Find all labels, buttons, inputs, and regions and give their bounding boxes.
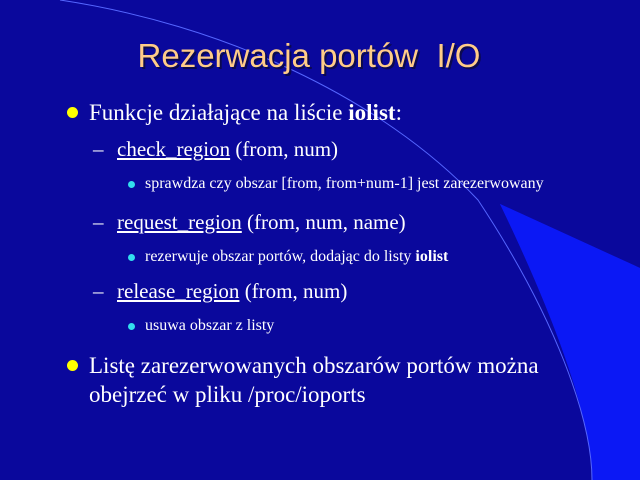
list-item: rezerwuje obszar portów, dodając do list… — [0, 247, 640, 267]
spacer — [0, 237, 640, 247]
list-item: Funkcje działające na liście iolist: — [0, 98, 640, 127]
dash-marker-icon: – — [93, 136, 104, 163]
bullet-circle-icon — [67, 360, 78, 371]
bullet-dot-icon — [128, 323, 135, 330]
list-item-text: Funkcje działające na liście — [89, 100, 348, 125]
list-item-text: usuwa obszar z listy — [145, 317, 274, 334]
slide-body: Funkcje działające na liście iolist: –ch… — [0, 98, 640, 411]
function-name: release_region — [117, 279, 239, 303]
bullet-circle-icon — [67, 107, 78, 118]
function-name: request_region — [117, 210, 242, 234]
function-signature: (from, num) — [239, 279, 347, 303]
list-item-text-tail: : — [396, 100, 402, 125]
spacer — [0, 195, 640, 209]
list-item: Listę zarezerwowanych obszarów portów mo… — [0, 351, 640, 409]
slide-title: Rezerwacja portów I/O — [0, 36, 640, 76]
list-item-emphasis: iolist — [415, 248, 448, 265]
function-signature: (from, num) — [230, 137, 338, 161]
function-signature: (from, num, name) — [242, 210, 406, 234]
presentation-slide: Rezerwacja portów I/O Funkcje działające… — [0, 0, 640, 480]
function-name: check_region — [117, 137, 230, 161]
list-item: sprawdza czy obszar [from, from+num-1] j… — [0, 174, 640, 194]
list-item-text: sprawdza czy obszar [from, from+num-1] j… — [145, 175, 544, 192]
list-item: –request_region (from, num, name) — [0, 209, 640, 236]
dash-marker-icon: – — [93, 209, 104, 236]
list-item-emphasis: iolist — [348, 100, 395, 125]
list-item: usuwa obszar z listy — [0, 316, 640, 336]
spacer — [0, 337, 640, 351]
spacer — [0, 306, 640, 316]
list-item: –check_region (from, num) — [0, 136, 640, 163]
list-item-text: Listę zarezerwowanych obszarów portów mo… — [89, 353, 539, 407]
list-item: –release_region (from, num) — [0, 278, 640, 305]
bullet-dot-icon — [128, 181, 135, 188]
list-item-text: rezerwuje obszar portów, dodając do list… — [145, 248, 415, 265]
bullet-dot-icon — [128, 254, 135, 261]
spacer — [0, 164, 640, 174]
dash-marker-icon: – — [93, 278, 104, 305]
spacer — [0, 268, 640, 278]
spacer — [0, 129, 640, 136]
